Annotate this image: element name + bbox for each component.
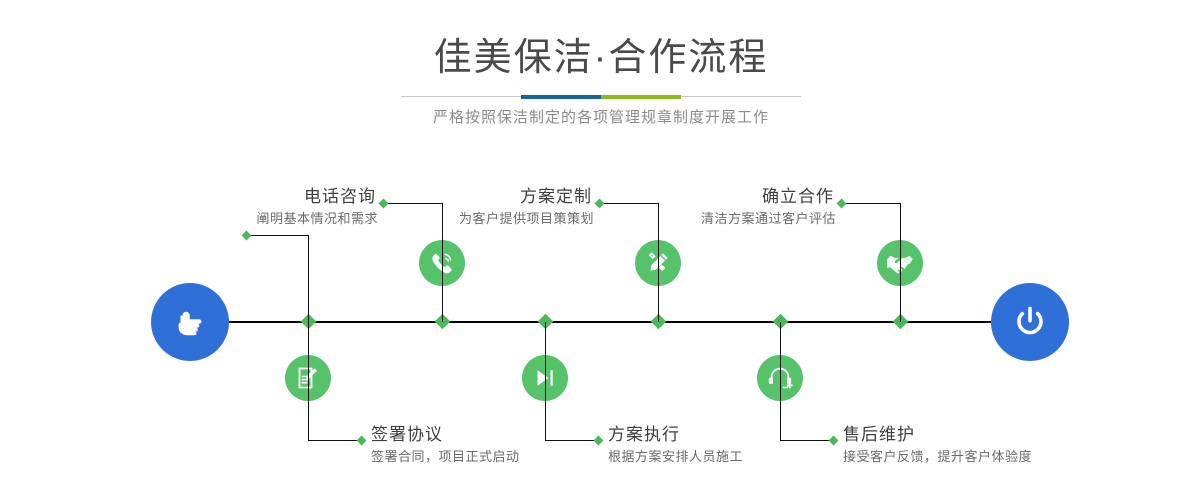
connector-leader: [843, 203, 901, 204]
pointing-hand-icon: [170, 302, 210, 342]
label-diamond: [595, 199, 605, 209]
connector-stem: [308, 322, 309, 440]
step-desc: 签署合同，项目正式启动: [371, 446, 520, 468]
connector-leader: [601, 203, 659, 204]
label-diamond: [837, 199, 847, 209]
title-divider: [401, 95, 801, 99]
connector-leader: [248, 235, 309, 236]
step-title: 签署协议: [371, 424, 520, 446]
connector-leader: [308, 440, 362, 441]
step-desc: 阐明基本情况和需求: [256, 208, 378, 230]
step-title: 方案定制: [459, 186, 594, 208]
timeline-end-badge: [991, 283, 1069, 361]
step-desc: 接受客户反馈，提升客户体验度: [843, 446, 1032, 468]
label-diamond: [242, 231, 252, 241]
step-label-1: 电话咨询 阐明基本情况和需求: [256, 186, 378, 230]
connector-stem: [658, 203, 659, 322]
step-title: 售后维护: [843, 424, 1032, 446]
step-label-4: 方案执行 根据方案安排人员施工: [608, 424, 743, 468]
connector-stem: [900, 203, 901, 322]
process-flow-infographic: 佳美保洁·合作流程 严格按照保洁制定的各项管理规章制度开展工作: [0, 0, 1202, 502]
power-icon: [1009, 301, 1051, 343]
connector-leader: [780, 440, 834, 441]
step-title: 电话咨询: [256, 186, 378, 208]
timeline-start-badge: [151, 283, 229, 361]
step-label-5: 确立合作 清洁方案通过客户评估: [701, 186, 836, 230]
label-diamond: [357, 436, 367, 446]
label-diamond: [829, 436, 839, 446]
timeline-axis: [225, 321, 997, 323]
step-label-6: 售后维护 接受客户反馈，提升客户体验度: [843, 424, 1032, 468]
connector-stem: [780, 322, 781, 440]
step-desc: 清洁方案通过客户评估: [701, 208, 836, 230]
step-label-2: 签署协议 签署合同，项目正式启动: [371, 424, 520, 468]
divider-blue-bar: [521, 95, 601, 99]
connector-stem: [545, 322, 546, 440]
step-title: 方案执行: [608, 424, 743, 446]
step-desc: 为客户提供项目策策划: [459, 208, 594, 230]
connector-leader: [545, 440, 599, 441]
step-label-3: 方案定制 为客户提供项目策策划: [459, 186, 594, 230]
step-desc: 根据方案安排人员施工: [608, 446, 743, 468]
page-subtitle: 严格按照保洁制定的各项管理规章制度开展工作: [0, 105, 1202, 131]
connector-leader: [385, 203, 443, 204]
step-title: 确立合作: [701, 186, 836, 208]
label-diamond: [379, 199, 389, 209]
connector-stem: [442, 203, 443, 322]
page-title: 佳美保洁·合作流程: [0, 34, 1202, 82]
divider-green-bar: [601, 95, 681, 99]
connector-stem: [308, 235, 309, 322]
label-diamond: [594, 436, 604, 446]
